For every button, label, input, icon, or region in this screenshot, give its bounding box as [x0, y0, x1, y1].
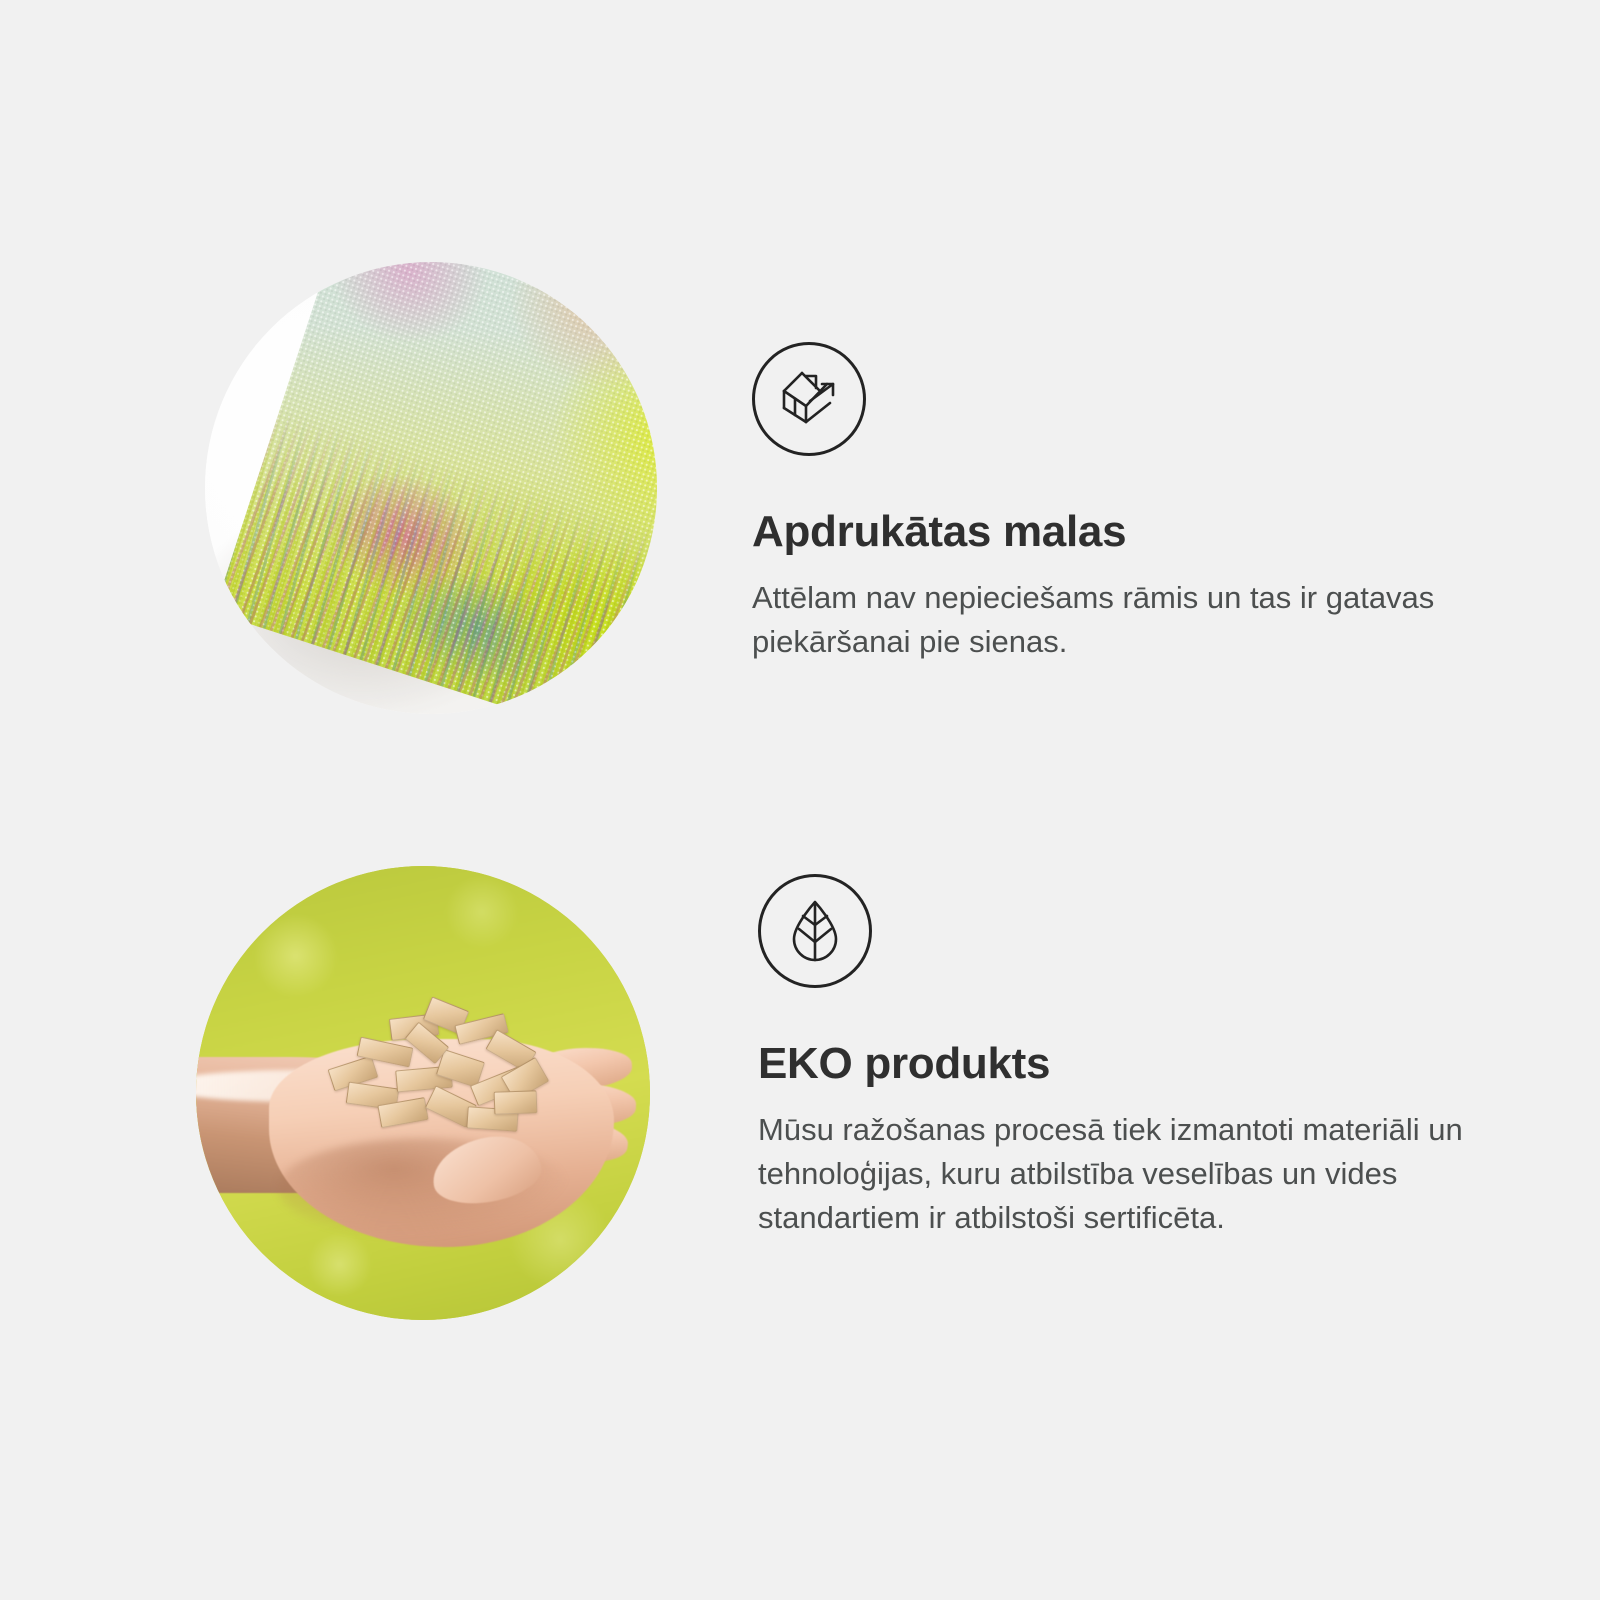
woodchip-pile — [314, 993, 586, 1156]
feature-title-eco-product: EKO produkts — [758, 1040, 1498, 1088]
feature-highlights-page: Apdrukātas malas Attēlam nav nepieciešam… — [0, 0, 1600, 1600]
feature-description-printed-edges: Attēlam nav nepieciešams rāmis un tas ir… — [752, 576, 1482, 664]
canvas-wrapped-edge-icon — [752, 342, 866, 456]
feature-text-printed-edges: Apdrukātas malas Attēlam nav nepieciešam… — [752, 342, 1482, 664]
leaf-icon — [758, 874, 872, 988]
feature-title-printed-edges: Apdrukātas malas — [752, 508, 1482, 556]
feature-image-eco-product — [196, 866, 650, 1320]
feature-image-printed-edges — [205, 262, 657, 714]
feature-text-eco-product: EKO produkts Mūsu ražošanas procesā tiek… — [758, 874, 1498, 1240]
feature-description-eco-product: Mūsu ražošanas procesā tiek izmantoti ma… — [758, 1108, 1478, 1240]
